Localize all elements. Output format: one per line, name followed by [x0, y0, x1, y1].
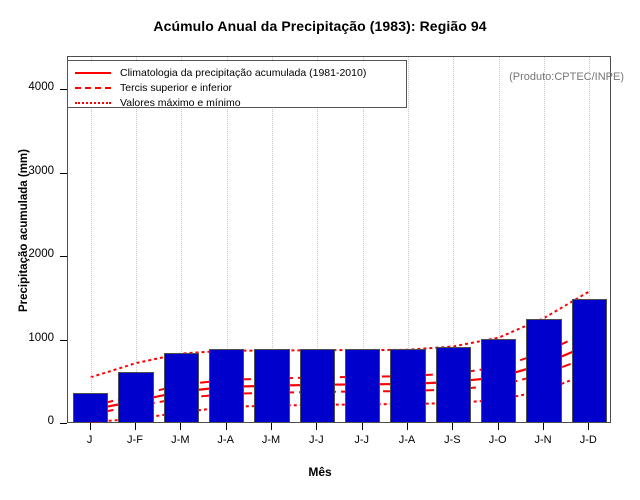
- y-tick-mark: [60, 173, 67, 174]
- legend-item-label: Climatologia da precipitação acumulada (…: [120, 67, 366, 79]
- x-tick-mark: [498, 423, 499, 430]
- x-tick-mark: [90, 423, 91, 430]
- y-tick-mark: [60, 256, 67, 257]
- x-tick-mark: [316, 423, 317, 430]
- bar: [164, 353, 199, 422]
- x-tick-mark: [180, 423, 181, 430]
- y-tick-label: 3000: [10, 165, 54, 177]
- bar: [481, 339, 516, 422]
- legend-line-dashed-icon: [75, 83, 111, 93]
- y-tick-label: 1000: [10, 332, 54, 344]
- y-tick-label: 4000: [10, 81, 54, 93]
- x-tick-mark: [226, 423, 227, 430]
- legend-item-climatology: Climatologia da precipitação acumulada (…: [75, 66, 399, 79]
- bar: [526, 319, 561, 422]
- legend-item-extremes: Valores máximo e mínimo: [75, 96, 399, 109]
- bar: [436, 347, 471, 422]
- bar: [254, 349, 289, 422]
- gridline-vertical: [91, 57, 92, 422]
- legend-item-label: Valores máximo e mínimo: [120, 97, 241, 109]
- plot-area: [67, 56, 611, 423]
- x-tick-mark: [362, 423, 363, 430]
- gridline-vertical: [136, 57, 137, 422]
- legend-item-label: Tercis superior e inferior: [120, 82, 232, 94]
- y-tick-label: 0: [10, 415, 54, 427]
- x-tick-mark: [543, 423, 544, 430]
- bar: [73, 393, 108, 422]
- bar: [209, 349, 244, 422]
- bar: [390, 349, 425, 422]
- chart-container: Acúmulo Anual da Precipitação (1983): Re…: [0, 0, 640, 500]
- legend-line-dotted-icon: [75, 98, 111, 108]
- producer-annotation: (Produto:CPTEC/INPE): [509, 71, 624, 83]
- bar: [345, 349, 380, 422]
- x-tick-mark: [271, 423, 272, 430]
- y-tick-label: 2000: [10, 248, 54, 260]
- bar: [300, 349, 335, 422]
- x-tick-label: J-D: [558, 434, 618, 446]
- x-tick-mark: [135, 423, 136, 430]
- legend-item-terciles: Tercis superior e inferior: [75, 81, 399, 94]
- bar: [572, 299, 607, 422]
- x-axis-title: Mês: [0, 465, 640, 479]
- x-tick-mark: [588, 423, 589, 430]
- legend-line-solid-icon: [75, 68, 111, 78]
- x-tick-mark: [407, 423, 408, 430]
- chart-legend: Climatologia da precipitação acumulada (…: [67, 60, 407, 108]
- y-tick-mark: [60, 340, 67, 341]
- chart-title: Acúmulo Anual da Precipitação (1983): Re…: [0, 18, 640, 34]
- y-tick-mark: [60, 89, 67, 90]
- y-axis-title: Precipitação acumulada (mm): [18, 149, 30, 312]
- y-tick-mark: [60, 423, 67, 424]
- bar: [118, 372, 153, 422]
- x-tick-mark: [452, 423, 453, 430]
